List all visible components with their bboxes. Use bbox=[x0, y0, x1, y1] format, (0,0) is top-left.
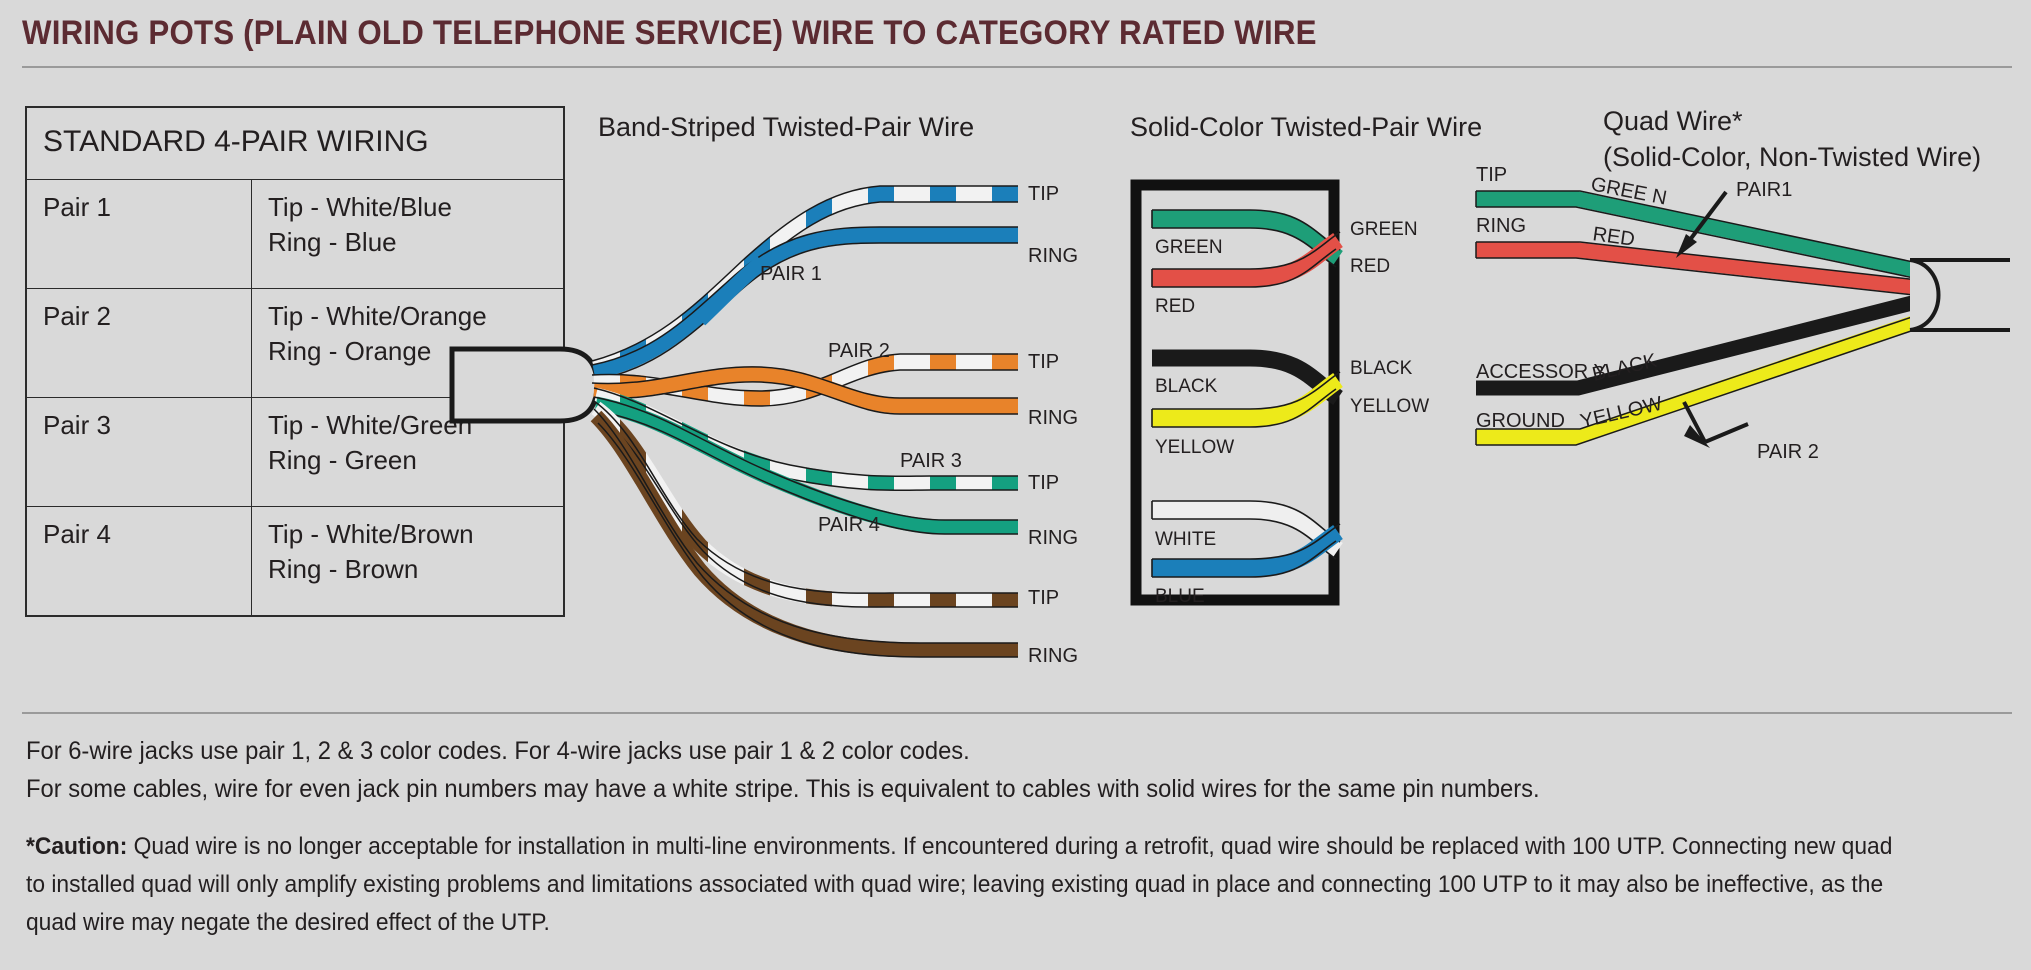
footer-notes: For 6-wire jacks use pair 1, 2 & 3 color… bbox=[26, 733, 1926, 808]
pair2-tip-label: TIP bbox=[1028, 351, 1059, 373]
solid-red-wire bbox=[1152, 240, 1338, 278]
table-row: Pair 4 Tip - White/Brown Ring - Brown bbox=[26, 506, 564, 616]
quad-yellow-wire bbox=[1476, 322, 1916, 437]
quad-black-wire bbox=[1476, 302, 1916, 388]
pair4-ring-wire bbox=[596, 416, 1018, 650]
divider-top bbox=[22, 66, 2012, 68]
band-pair-1: PAIR 1 TIP RING bbox=[592, 183, 1078, 380]
band-pair-4: PAIR 4 TIP RING bbox=[594, 401, 1078, 667]
solid-green-inner-label: GREEN bbox=[1155, 237, 1223, 258]
band-pair-3: PAIR 3 TIP RING bbox=[594, 388, 1078, 549]
page-title: WIRING POTS (PLAIN OLD TELEPHONE SERVICE… bbox=[22, 14, 1317, 53]
quad-pair1-label: PAIR1 bbox=[1736, 179, 1792, 201]
pair4-ring-label: RING bbox=[1028, 645, 1078, 667]
solid-green-wire bbox=[1152, 219, 1338, 258]
pair1-label: PAIR 1 bbox=[760, 263, 822, 285]
pair4-tip-label: TIP bbox=[1028, 587, 1059, 609]
pair-label: Pair 2 bbox=[26, 288, 252, 397]
solid-white-inner-label: WHITE bbox=[1155, 529, 1216, 550]
pair1-ring-wire bbox=[594, 235, 1018, 372]
ring-text: Ring - Blue bbox=[268, 225, 547, 260]
solid-red-outer-label: RED bbox=[1350, 256, 1390, 277]
pair4-label: PAIR 4 bbox=[818, 514, 880, 536]
ring-text: Ring - Green bbox=[268, 443, 547, 478]
quad-yellow-wire-label: YELLOW bbox=[1578, 393, 1664, 433]
pair1-arrowhead bbox=[1676, 234, 1697, 258]
solid-color-heading: Solid-Color Twisted-Pair Wire bbox=[1130, 110, 1482, 146]
quad-wire-heading: Quad Wire* (Solid-Color, Non-Twisted Wir… bbox=[1603, 104, 1981, 175]
quad-heading-line2: (Solid-Color, Non-Twisted Wire) bbox=[1603, 140, 1981, 176]
solid-yellow-inner-label: YELLOW bbox=[1155, 437, 1234, 458]
solid-color-panel: GREEN GREEN RED RED BLACK BLACK YELLOW Y… bbox=[1136, 185, 1429, 607]
solid-blue-wire bbox=[1152, 532, 1338, 568]
pair3-label: PAIR 3 bbox=[900, 450, 962, 472]
pair-label: Pair 4 bbox=[26, 506, 252, 616]
pair3-tip-label: TIP bbox=[1028, 472, 1059, 494]
table-header-label: STANDARD 4-PAIR WIRING bbox=[26, 107, 564, 179]
quad-wire-panel: TIP RING ACCESSOR Y GROUND GREE N RED BL… bbox=[1476, 164, 2010, 463]
quad-cable-jacket bbox=[1910, 260, 2010, 330]
solid-blue-inner-label: BLUE bbox=[1155, 586, 1205, 607]
quad-pair2-label: PAIR 2 bbox=[1757, 441, 1819, 463]
solid-red-inner-label: RED bbox=[1155, 296, 1195, 317]
pair3-tip-wire bbox=[596, 395, 1018, 483]
pair3-ring-wire bbox=[596, 404, 1018, 527]
solid-white-wire bbox=[1152, 510, 1338, 550]
pair-label: Pair 3 bbox=[26, 397, 252, 506]
caution-text: Quad wire is no longer acceptable for in… bbox=[26, 833, 1892, 936]
standard-4-pair-wiring-table: STANDARD 4-PAIR WIRING Pair 1 Tip - Whit… bbox=[25, 106, 565, 617]
pair4-tip-wire bbox=[596, 408, 1018, 600]
pair-label: Pair 1 bbox=[26, 179, 252, 288]
quad-red-wire-label: RED bbox=[1591, 223, 1636, 251]
quad-accessory-label: ACCESSOR Y bbox=[1476, 361, 1607, 383]
pair2-pointer2 bbox=[1705, 424, 1748, 442]
pair2-ring-wire bbox=[594, 374, 1018, 406]
pair-colors: Tip - White/Green Ring - Green bbox=[252, 397, 565, 506]
pair1-tip-wire bbox=[594, 194, 1018, 368]
pair3-ring-label: RING bbox=[1028, 527, 1078, 549]
pair-colors: Tip - White/Orange Ring - Orange bbox=[252, 288, 565, 397]
table-header-row: STANDARD 4-PAIR WIRING bbox=[26, 107, 564, 179]
pair2-label: PAIR 2 bbox=[828, 340, 890, 362]
quad-black-wire-label: BLACK bbox=[1590, 350, 1659, 386]
solid-black-wire bbox=[1152, 358, 1338, 398]
caution-label: *Caution: bbox=[26, 833, 127, 860]
band-striped-heading: Band-Striped Twisted-Pair Wire bbox=[598, 110, 974, 146]
table-row: Pair 3 Tip - White/Green Ring - Green bbox=[26, 397, 564, 506]
band-pair-2: PAIR 2 TIP RING bbox=[592, 340, 1078, 429]
quad-tip-label: TIP bbox=[1476, 164, 1507, 186]
tip-text: Tip - White/Green bbox=[268, 408, 547, 443]
ring-text: Ring - Orange bbox=[268, 334, 547, 369]
ring-text: Ring - Brown bbox=[268, 552, 547, 587]
pair2-ring-label: RING bbox=[1028, 407, 1078, 429]
table-row: Pair 1 Tip - White/Blue Ring - Blue bbox=[26, 179, 564, 288]
solid-yellow-outer-label: YELLOW bbox=[1350, 396, 1429, 417]
pair-colors: Tip - White/Blue Ring - Blue bbox=[252, 179, 565, 288]
footer-line-1: For 6-wire jacks use pair 1, 2 & 3 color… bbox=[26, 733, 1926, 771]
pair2-arrowhead bbox=[1684, 425, 1710, 448]
quad-green-wire bbox=[1476, 199, 1916, 270]
divider-bottom bbox=[22, 712, 2012, 714]
quad-ring-label: RING bbox=[1476, 215, 1526, 237]
caution-note: *Caution: Quad wire is no longer accepta… bbox=[26, 828, 1917, 942]
table-row: Pair 2 Tip - White/Orange Ring - Orange bbox=[26, 288, 564, 397]
quad-green-wire-label: GREE N bbox=[1589, 173, 1668, 209]
solid-black-inner-label: BLACK bbox=[1155, 376, 1218, 397]
tip-text: Tip - White/Brown bbox=[268, 517, 547, 552]
solid-black-outer-label: BLACK bbox=[1350, 358, 1413, 379]
solid-yellow-wire bbox=[1152, 380, 1338, 418]
quad-red-wire bbox=[1476, 250, 1916, 287]
tip-text: Tip - White/Orange bbox=[268, 299, 547, 334]
quad-heading-line1: Quad Wire* bbox=[1603, 104, 1981, 140]
pair1-ring-label: RING bbox=[1028, 245, 1078, 267]
pair1-pointer bbox=[1680, 192, 1726, 253]
pair-colors: Tip - White/Brown Ring - Brown bbox=[252, 506, 565, 616]
quad-ground-label: GROUND bbox=[1476, 410, 1565, 432]
footer-line-2: For some cables, wire for even jack pin … bbox=[26, 771, 1926, 809]
pair1-tip-label: TIP bbox=[1028, 183, 1059, 205]
pair2-tip-wire bbox=[594, 362, 1018, 398]
solid-green-outer-label: GREEN bbox=[1350, 219, 1418, 240]
tip-text: Tip - White/Blue bbox=[268, 190, 547, 225]
pair2-pointer bbox=[1684, 402, 1705, 442]
